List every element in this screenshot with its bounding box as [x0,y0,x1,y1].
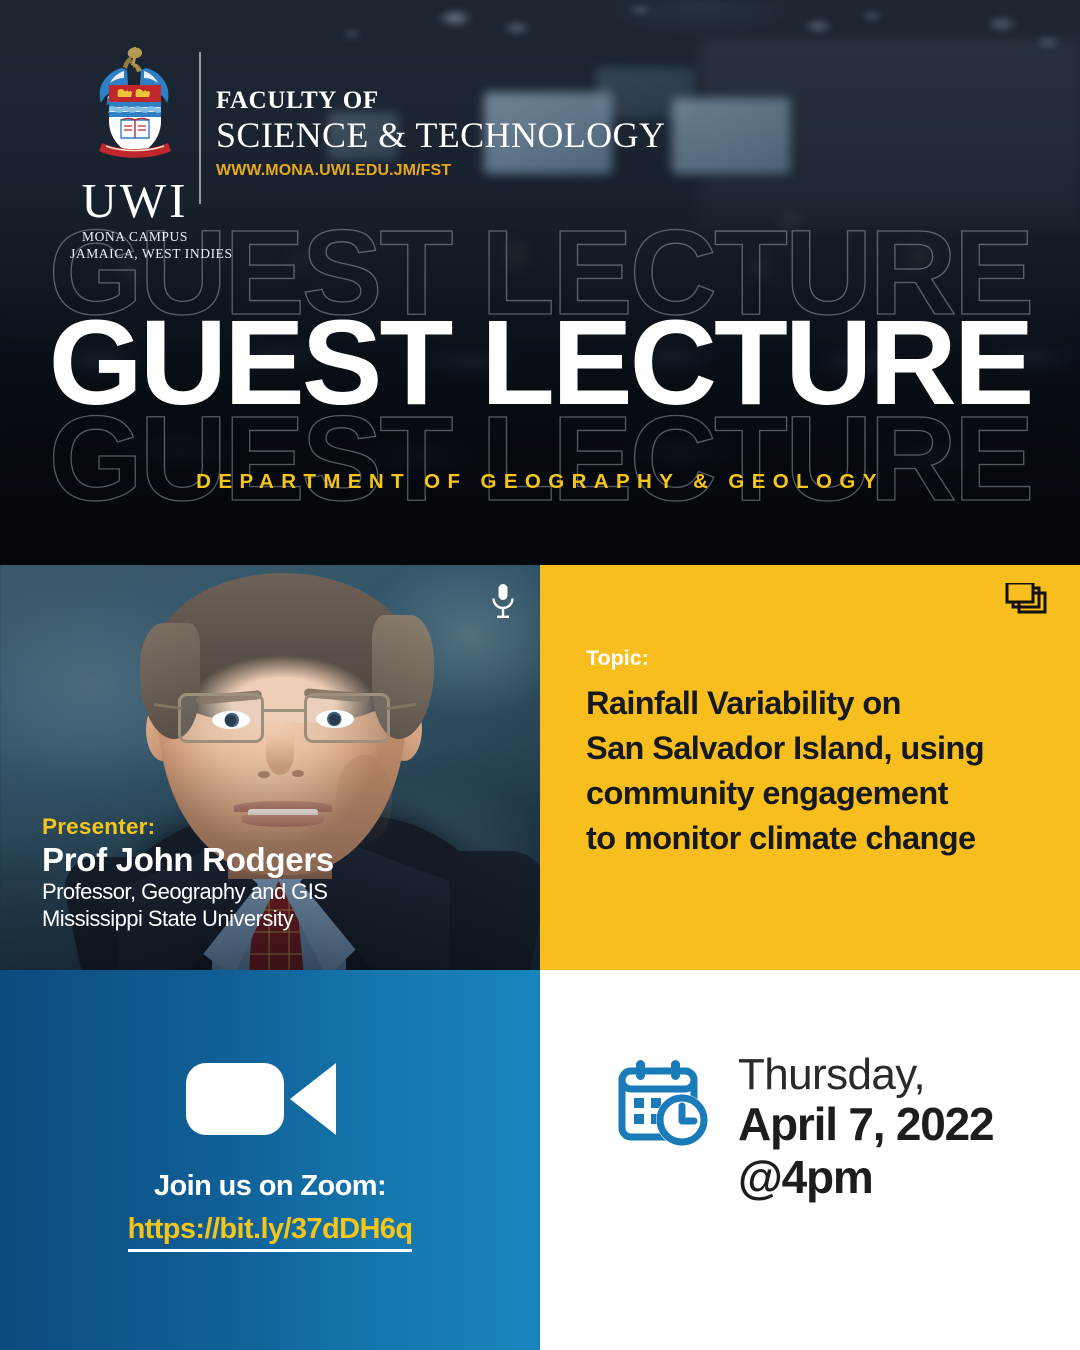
uwi-coat-of-arms-icon [76,44,194,174]
stacked-slides-icon [1005,583,1049,623]
date-day: Thursday, [738,1050,993,1099]
zoom-link[interactable]: https://bit.ly/37dDH6q [128,1213,413,1252]
video-camera-icon [186,1059,336,1139]
zoom-link-wrap[interactable]: https://bit.ly/37dDH6q [0,1213,540,1252]
presenter-affiliation: Mississippi State University [42,906,334,932]
department-label: DEPARTMENT OF GEOGRAPHY & GEOLOGY [196,470,884,494]
microphone-icon [490,583,516,619]
date-full: April 7, 2022 [738,1099,993,1151]
topic-panel: Topic: Rainfall Variability on San Salva… [540,565,1080,970]
header-divider [199,52,201,204]
zoom-join-label: Join us on Zoom: [0,1170,540,1203]
date-time: @4pm [738,1151,993,1204]
zoom-panel: Join us on Zoom: https://bit.ly/37dDH6q [0,970,540,1350]
hero-section: UWI MONA CAMPUS JAMAICA, WEST INDIES FAC… [0,0,1080,565]
presenter-details: Presenter: Prof John Rodgers Professor, … [42,814,334,932]
faculty-of-label: FACULTY OF [216,88,665,113]
presenter-role: Professor, Geography and GIS [42,879,334,905]
presenter-label: Presenter: [42,814,334,840]
guest-lecture-poster: UWI MONA CAMPUS JAMAICA, WEST INDIES FAC… [0,0,1080,1350]
calendar-clock-icon [618,1058,710,1150]
faculty-website-link[interactable]: WWW.MONA.UWI.EDU.JM/FST [216,162,665,180]
bottom-section: Join us on Zoom: https://bit.ly/37dDH6q [0,970,1080,1350]
presenter-name: Prof John Rodgers [42,843,334,878]
topic-title-line-2: San Salvador Island, using [586,726,1056,771]
page-title: GUEST LECTURE [49,302,1032,423]
topic-title-line-4: to monitor climate change [586,816,1056,861]
topic-title-line-3: community engagement [586,771,1056,816]
topic-title: Rainfall Variability on San Salvador Isl… [586,681,1056,861]
date-panel: Thursday, April 7, 2022 @4pm [540,970,1080,1350]
topic-title-line-1: Rainfall Variability on [586,681,1056,726]
date-text: Thursday, April 7, 2022 @4pm [738,1050,993,1204]
faculty-name: SCIENCE & TECHNOLOGY [216,115,665,155]
guest-lecture-title-stack: GUEST LECTURE GUEST LECTURE DEPARTMENT O… [0,206,1080,546]
topic-label: Topic: [586,646,649,671]
faculty-block: FACULTY OF SCIENCE & TECHNOLOGY WWW.MONA… [216,88,665,180]
